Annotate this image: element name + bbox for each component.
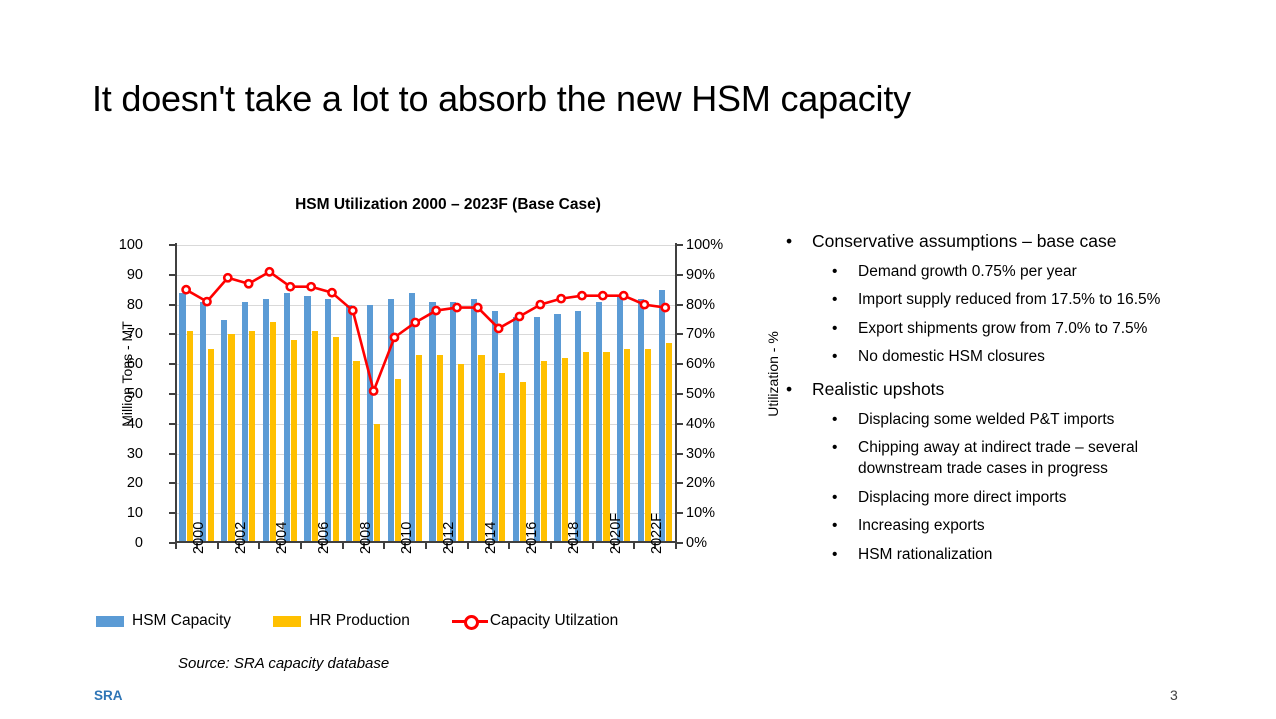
- bullet-list: •Conservative assumptions – base case•De…: [786, 230, 1216, 565]
- x-axis-tick: [175, 543, 177, 549]
- legend-swatch: [273, 616, 301, 627]
- bar-hr-production: [624, 349, 630, 543]
- y-axis-left-line: [175, 243, 177, 543]
- chart-container: HSM Utilization 2000 – 2023F (Base Case)…: [96, 196, 756, 646]
- bar-hsm-capacity: [492, 311, 498, 543]
- utilization-data-point: [578, 292, 585, 299]
- bar-hr-production: [520, 382, 526, 543]
- y-axis-tick: [677, 542, 683, 544]
- bar-hr-production: [416, 355, 422, 543]
- bullet-text: Import supply reduced from 17.5% to 16.5…: [858, 290, 1216, 311]
- bullet-dot-icon: •: [786, 378, 812, 402]
- page-number: 3: [1170, 687, 1178, 703]
- bar-hr-production: [249, 331, 255, 543]
- gridline: [176, 245, 676, 246]
- bar-hr-production: [187, 331, 193, 543]
- bullet-level-2: •Import supply reduced from 17.5% to 16.…: [786, 290, 1216, 311]
- x-axis-label: 2006: [317, 522, 332, 554]
- bullet-text: Export shipments grow from 7.0% to 7.5%: [858, 319, 1216, 340]
- x-axis-tick: [550, 543, 552, 549]
- legend-label: HSM Capacity: [132, 612, 231, 630]
- utilization-data-point: [558, 295, 565, 302]
- bar-hr-production: [666, 343, 672, 543]
- bullet-dot-icon: •: [832, 488, 858, 509]
- y-axis-right-label: 100%: [686, 238, 723, 253]
- bar-hsm-capacity: [617, 296, 623, 543]
- chart-title: HSM Utilization 2000 – 2023F (Base Case): [148, 196, 748, 214]
- bar-hsm-capacity: [388, 299, 394, 543]
- x-axis-label: 2000: [192, 522, 207, 554]
- legend-label: HR Production: [309, 612, 410, 630]
- bullet-dot-icon: •: [832, 262, 858, 283]
- bullet-dot-icon: •: [832, 347, 858, 368]
- x-axis-label: 2004: [275, 522, 290, 554]
- y-axis-left-label: 80: [127, 298, 143, 313]
- bullet-level-2: •Chipping away at indirect trade – sever…: [786, 438, 1216, 479]
- bullet-level-2: •Displacing more direct imports: [786, 488, 1216, 509]
- bullet-text: Conservative assumptions – base case: [812, 230, 1116, 254]
- y-axis-left-label: 70: [127, 327, 143, 342]
- bar-hsm-capacity: [179, 293, 185, 543]
- y-axis-tick: [677, 244, 683, 246]
- bullet-dot-icon: •: [832, 516, 858, 537]
- bullet-level-2: •Increasing exports: [786, 516, 1216, 537]
- bar-hsm-capacity: [367, 305, 373, 543]
- bar-hsm-capacity: [513, 317, 519, 543]
- bullet-dot-icon: •: [832, 290, 858, 311]
- bar-hr-production: [562, 358, 568, 543]
- x-axis-label: 2010: [400, 522, 415, 554]
- y-axis-tick: [677, 453, 683, 455]
- x-axis-tick: [217, 543, 219, 549]
- bar-hsm-capacity: [659, 290, 665, 543]
- bar-hsm-capacity: [263, 299, 269, 543]
- x-axis-tick: [467, 543, 469, 549]
- bullet-text: Demand growth 0.75% per year: [858, 262, 1216, 283]
- bar-hr-production: [395, 379, 401, 543]
- chart-legend: HSM CapacityHR ProductionCapacity Utilza…: [96, 612, 716, 630]
- bullet-dot-icon: •: [832, 319, 858, 340]
- y-axis-right-label: 80%: [686, 298, 715, 313]
- bar-hsm-capacity: [346, 305, 352, 543]
- bar-hr-production: [499, 373, 505, 543]
- y-axis-left-label: 0: [135, 536, 143, 551]
- bullet-level-2: •HSM rationalization: [786, 545, 1216, 566]
- x-axis-label: 2008: [359, 522, 374, 554]
- x-axis-label: 2022F: [650, 513, 665, 554]
- y-axis-right-label: 10%: [686, 506, 715, 521]
- bar-hsm-capacity: [429, 302, 435, 543]
- utilization-data-point: [308, 283, 315, 290]
- bar-hr-production: [270, 322, 276, 543]
- x-axis-tick: [425, 543, 427, 549]
- bullet-level-2: •Displacing some welded P&T imports: [786, 410, 1216, 431]
- utilization-data-point: [245, 280, 252, 287]
- legend-item[interactable]: Capacity Utilzation: [452, 612, 618, 630]
- y-axis-tick: [169, 423, 175, 425]
- legend-line-marker-icon: [452, 614, 488, 628]
- x-axis-tick: [633, 543, 635, 549]
- bar-hr-production: [437, 355, 443, 543]
- bar-hsm-capacity: [638, 299, 644, 543]
- utilization-data-point: [287, 283, 294, 290]
- bar-hr-production: [208, 349, 214, 543]
- y-axis-right-label: 70%: [686, 327, 715, 342]
- y-axis-right-label: 90%: [686, 268, 715, 283]
- y-axis-tick: [677, 512, 683, 514]
- x-axis-tick: [258, 543, 260, 549]
- bullet-text: Displacing more direct imports: [858, 488, 1216, 509]
- y-axis-tick: [169, 333, 175, 335]
- x-axis-label: 2018: [567, 522, 582, 554]
- y-axis-right-title: Utilization - %: [765, 289, 781, 459]
- bar-hr-production: [583, 352, 589, 543]
- bar-hsm-capacity: [304, 296, 310, 543]
- y-axis-left-label: 20: [127, 476, 143, 491]
- bullet-level-2: •Export shipments grow from 7.0% to 7.5%: [786, 319, 1216, 340]
- x-axis-label: 2014: [484, 522, 499, 554]
- bar-hsm-capacity: [575, 311, 581, 543]
- legend-label: Capacity Utilzation: [490, 612, 618, 630]
- y-axis-tick: [677, 393, 683, 395]
- y-axis-tick: [169, 393, 175, 395]
- x-axis-label: 2002: [234, 522, 249, 554]
- y-axis-tick: [677, 304, 683, 306]
- bar-hsm-capacity: [409, 293, 415, 543]
- bar-hsm-capacity: [284, 293, 290, 543]
- bar-hsm-capacity: [242, 302, 248, 543]
- bar-hsm-capacity: [534, 317, 540, 543]
- y-axis-right-label: 40%: [686, 417, 715, 432]
- y-axis-tick: [169, 274, 175, 276]
- y-axis-right-label: 50%: [686, 387, 715, 402]
- y-axis-tick: [169, 482, 175, 484]
- y-axis-tick: [677, 423, 683, 425]
- page-title: It doesn't take a lot to absorb the new …: [92, 78, 1092, 120]
- legend-item[interactable]: HSM Capacity: [96, 612, 231, 630]
- y-axis-tick: [677, 274, 683, 276]
- chart-plot-area: [176, 245, 676, 543]
- y-axis-right-label: 30%: [686, 447, 715, 462]
- bullet-dot-icon: •: [832, 438, 858, 479]
- bullet-text: HSM rationalization: [858, 545, 1216, 566]
- y-axis-left-label: 30: [127, 447, 143, 462]
- bullet-level-1: •Conservative assumptions – base case: [786, 230, 1216, 254]
- bar-hsm-capacity: [471, 299, 477, 543]
- bar-hr-production: [333, 337, 339, 543]
- bullet-text: Displacing some welded P&T imports: [858, 410, 1216, 431]
- bullet-level-2: •No domestic HSM closures: [786, 347, 1216, 368]
- utilization-line: [186, 272, 665, 391]
- x-axis-tick: [508, 543, 510, 549]
- bar-hsm-capacity: [450, 302, 456, 543]
- x-axis-tick: [342, 543, 344, 549]
- utilization-data-point: [328, 289, 335, 296]
- bar-hr-production: [458, 364, 464, 543]
- y-axis-tick: [169, 363, 175, 365]
- bullet-dot-icon: •: [786, 230, 812, 254]
- y-axis-tick: [169, 244, 175, 246]
- footer-logo: SRA: [94, 688, 123, 703]
- y-axis-right-label: 0%: [686, 536, 707, 551]
- y-axis-right-label: 20%: [686, 476, 715, 491]
- y-axis-right-label: 60%: [686, 357, 715, 372]
- bar-hsm-capacity: [200, 302, 206, 543]
- y-axis-left-label: 60: [127, 357, 143, 372]
- bar-hr-production: [478, 355, 484, 543]
- bar-hr-production: [312, 331, 318, 543]
- bullet-text: No domestic HSM closures: [858, 347, 1216, 368]
- bar-hr-production: [228, 334, 234, 543]
- legend-item[interactable]: HR Production: [273, 612, 410, 630]
- y-axis-left-label: 10: [127, 506, 143, 521]
- x-axis-tick: [300, 543, 302, 549]
- bar-hr-production: [541, 361, 547, 543]
- y-axis-tick: [169, 304, 175, 306]
- gridline: [176, 275, 676, 276]
- bar-hsm-capacity: [596, 302, 602, 543]
- y-axis-tick: [169, 512, 175, 514]
- y-axis-tick: [169, 453, 175, 455]
- y-axis-left-label: 50: [127, 387, 143, 402]
- bullet-text: Increasing exports: [858, 516, 1216, 537]
- x-axis-label: 2016: [525, 522, 540, 554]
- bullet-level-1: •Realistic upshots: [786, 378, 1216, 402]
- y-axis-left-label: 100: [119, 238, 143, 253]
- y-axis-tick: [677, 363, 683, 365]
- legend-swatch: [96, 616, 124, 627]
- bar-hsm-capacity: [554, 314, 560, 543]
- bullet-dot-icon: •: [832, 410, 858, 431]
- source-note: Source: SRA capacity database: [178, 655, 389, 672]
- bar-hsm-capacity: [221, 320, 227, 544]
- bar-hr-production: [374, 424, 380, 543]
- y-axis-left-label: 90: [127, 268, 143, 283]
- y-axis-tick: [677, 333, 683, 335]
- utilization-data-point: [599, 292, 606, 299]
- bar-hsm-capacity: [325, 299, 331, 543]
- bullet-dot-icon: •: [832, 545, 858, 566]
- x-axis-tick: [383, 543, 385, 549]
- y-axis-left-label: 40: [127, 417, 143, 432]
- x-axis-label: 2012: [442, 522, 457, 554]
- y-axis-tick: [677, 482, 683, 484]
- x-axis-tick: [592, 543, 594, 549]
- bar-hr-production: [353, 361, 359, 543]
- x-axis-label: 2020F: [609, 513, 624, 554]
- y-axis-left-title: Million Tons - MT: [119, 289, 135, 459]
- bullet-text: Realistic upshots: [812, 378, 944, 402]
- bar-hr-production: [291, 340, 297, 543]
- bullet-level-2: •Demand growth 0.75% per year: [786, 262, 1216, 283]
- bullet-text: Chipping away at indirect trade – severa…: [858, 438, 1216, 479]
- x-axis-tick: [675, 543, 677, 549]
